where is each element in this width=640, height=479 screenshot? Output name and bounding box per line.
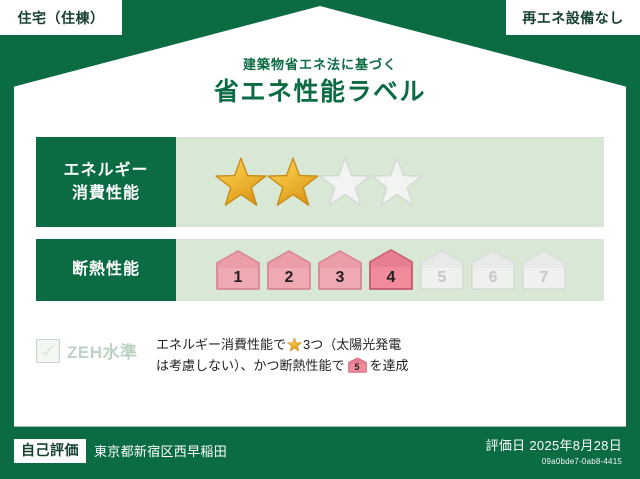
footer-left: 自己評価 東京都新宿区西早稲田 [14, 439, 227, 463]
house-grade-6: 6 [469, 248, 517, 292]
title-subtitle: 建築物省エネ法に基づく [0, 57, 640, 73]
row-energy-label: エネルギー 消費性能 [36, 137, 176, 227]
row-insulation-value: 1 2 3 [176, 239, 604, 301]
house-grade-1: 1 [214, 248, 262, 292]
insulation-grade-scale: 1 2 3 [214, 248, 568, 292]
row-energy-label-line2: 消費性能 [72, 182, 140, 205]
footer-right: 評価日 2025年8月28日 09a0bde7-0ab8-4415 [486, 438, 622, 466]
house-grade-5-label: 5 [418, 270, 466, 286]
house-grade-2: 2 [265, 248, 313, 292]
star-icon-filled [214, 155, 268, 209]
house-grade-7: 7 [520, 248, 568, 292]
zeh-description: エネルギー消費性能で 3つ（太陽光発電 は考慮しない）、かつ断熱性能で 5 を達… [156, 332, 604, 377]
badge-building-type-label: 住宅（住棟） [18, 11, 105, 25]
row-energy-performance: エネルギー 消費性能 [36, 137, 604, 227]
row-energy-value [176, 137, 604, 227]
zeh-checkbox-icon [36, 339, 60, 363]
property-address: 東京都新宿区西早稲田 [94, 441, 227, 460]
house-grade-7-label: 7 [520, 270, 568, 286]
house-grade-3: 3 [316, 248, 364, 292]
badge-renewable-energy: 再エネ設備なし [506, 0, 640, 35]
badge-building-type: 住宅（住棟） [0, 0, 122, 35]
zeh-desc-part1: エネルギー消費性能で [156, 337, 286, 352]
title-main: 省エネ性能ラベル [0, 77, 640, 108]
zeh-mark: ZEH水準 [36, 332, 156, 363]
star-icon-empty [318, 155, 372, 209]
star-rating [214, 155, 422, 209]
self-evaluation-badge: 自己評価 [14, 439, 86, 463]
zeh-desc-part2: は考慮しない）、かつ断熱性能で [156, 358, 345, 373]
inline-house-grade-label: 5 [347, 363, 368, 372]
zeh-desc-star-count: 3つ（太陽光発電 [303, 337, 401, 352]
star-icon-filled [266, 155, 320, 209]
house-grade-6-label: 6 [469, 270, 517, 286]
house-grade-3-label: 3 [316, 270, 364, 286]
page-title: 建築物省エネ法に基づく 省エネ性能ラベル [0, 57, 640, 108]
house-grade-2-label: 2 [265, 270, 313, 286]
footer-divider [14, 426, 626, 427]
inline-house-icon: 5 [347, 357, 368, 373]
zeh-standard-note: ZEH水準 エネルギー消費性能で 3つ（太陽光発電 は考慮しない）、かつ断熱性能… [36, 332, 604, 377]
house-grade-1-label: 1 [214, 270, 262, 286]
row-energy-label-line1: エネルギー [63, 159, 148, 182]
row-insulation-label-line1: 断熱性能 [72, 258, 140, 281]
evaluation-id: 09a0bde7-0ab8-4415 [486, 457, 622, 466]
energy-performance-label: 住宅（住棟） 再エネ設備なし 建築物省エネ法に基づく 省エネ性能ラベル エネルギ… [0, 0, 640, 479]
row-insulation-label: 断熱性能 [36, 239, 176, 301]
star-icon-empty [370, 155, 424, 209]
evaluation-date: 評価日 2025年8月28日 [486, 438, 622, 455]
house-grade-4-label: 4 [367, 270, 415, 286]
zeh-mark-label: ZEH水準 [67, 338, 138, 363]
rating-rows: エネルギー 消費性能 [36, 137, 604, 313]
zeh-check-glyph-icon [41, 344, 55, 358]
footer: 自己評価 東京都新宿区西早稲田 評価日 2025年8月28日 09a0bde7-… [0, 432, 640, 479]
zeh-desc-part3: を達成 [370, 358, 409, 373]
row-insulation-performance: 断熱性能 1 [36, 239, 604, 301]
house-grade-4: 4 [367, 248, 415, 292]
badge-renewable-energy-label: 再エネ設備なし [522, 11, 624, 25]
house-grade-5: 5 [418, 248, 466, 292]
inline-star-icon [287, 337, 302, 352]
